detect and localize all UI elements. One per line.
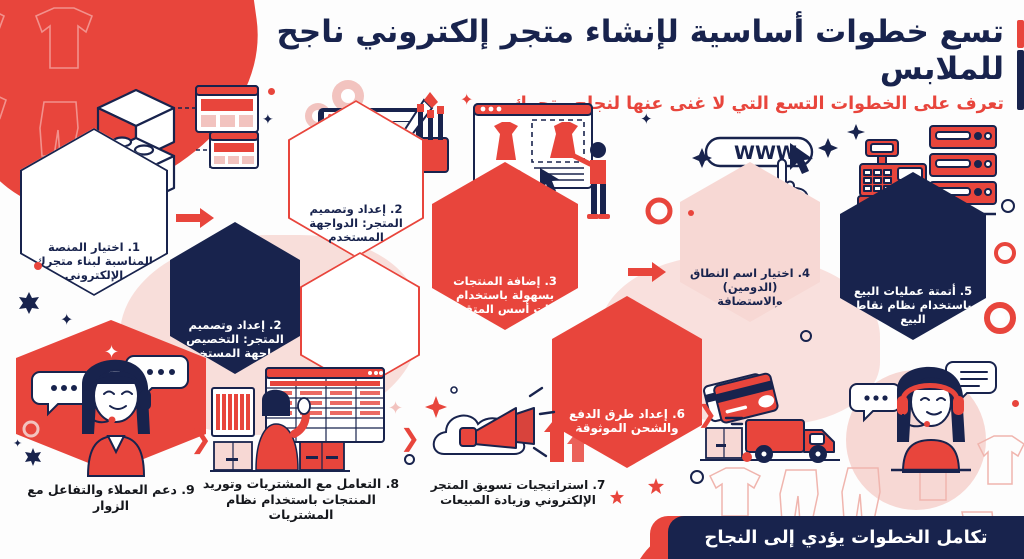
deco-spark-3: ✦ [13, 437, 22, 450]
deco-splat-2 [24, 448, 42, 466]
step-9-bottom-label: 9. دعم العملاء والتفاعل مع الزوار [16, 482, 206, 513]
arrow-1-to-2 [176, 208, 216, 228]
deco-spark-7: ✦ [388, 398, 403, 419]
support-agent-icon [30, 348, 200, 476]
footer-banner: تكامل الخطوات يؤدي إلى النجاح [668, 516, 1024, 559]
megaphone-marketing-icon [430, 382, 590, 474]
deco-dot-2 [268, 88, 275, 95]
chevron-9-to-8-icon: ❯ [190, 425, 212, 455]
deco-spark-6: ✦ [460, 90, 473, 109]
deco-spark-4: ✦ [262, 112, 274, 128]
deco-gear-2 [644, 196, 674, 226]
deco-star-2 [610, 490, 624, 504]
deco-ring-1 [690, 470, 704, 484]
chevron-8-to-7-icon: ❯ [400, 424, 420, 452]
support-agent-right-icon [855, 356, 995, 472]
deco-gear-4 [992, 240, 1018, 266]
deco-spark-5: ✦ [640, 110, 653, 128]
header-accent-bar-red [1017, 20, 1024, 48]
deco-dot-4 [742, 452, 752, 462]
deco-dot-5 [1012, 400, 1019, 407]
footer-banner-text: تكامل الخطوات يؤدي إلى النجاح [704, 527, 987, 548]
deco-splat-1 [18, 292, 40, 314]
infographic-canvas: تسع خطوات أساسية لإنشاء متجر إلكتروني نا… [0, 0, 1024, 559]
deco-gear-1 [22, 420, 40, 438]
chevron-6-to-7-icon: ❯ [697, 400, 717, 428]
deco-star-1 [648, 478, 664, 494]
deco-spark-2: ✦ [104, 342, 119, 363]
deco-gear-3 [982, 300, 1018, 336]
header: تسع خطوات أساسية لإنشاء متجر إلكتروني نا… [150, 14, 1024, 106]
step-7-bottom-label: 7. استراتيجيات تسويق المتجر الإلكتروني و… [408, 478, 628, 508]
deco-ring-2 [404, 454, 415, 465]
www-text: WWW [734, 142, 797, 164]
deco-dot-1 [34, 262, 42, 270]
step-4-label: 3. إضافة المنتجات بسهولة باستخدام أدوات … [432, 274, 578, 330]
inventory-spreadsheet-icon [210, 366, 390, 476]
deco-spark-1: ✦ [60, 310, 73, 329]
arrow-3-to-4 [628, 262, 668, 282]
deco-dot-3 [688, 210, 694, 216]
header-accent-bar-navy [1017, 50, 1024, 110]
deco-ring-3 [800, 330, 812, 342]
payment-shipping-icon [700, 372, 870, 468]
step-8-bottom-label: 8. التعامل مع المشتريات وتوريد المنتجات … [196, 476, 406, 523]
page-title: تسع خطوات أساسية لإنشاء متجر إلكتروني نا… [150, 14, 1024, 87]
